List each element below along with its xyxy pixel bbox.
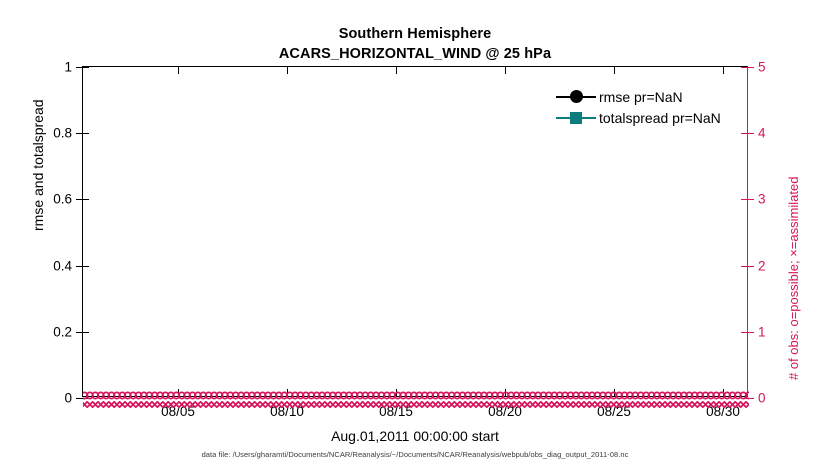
x-tick-label-0: 08/05 bbox=[161, 404, 195, 419]
chart-title-line-1: Southern Hemisphere bbox=[0, 24, 830, 44]
y-tick-label-left-0: 0 bbox=[64, 391, 72, 406]
obs-possible-icon bbox=[83, 390, 749, 401]
legend-marker-circle-icon bbox=[553, 88, 599, 106]
y-tick-label-right-4: 4 bbox=[758, 126, 766, 141]
y-axis-left-title: rmse and totalspread bbox=[30, 99, 46, 231]
legend-item-totalspread[interactable]: totalspread pr=NaN bbox=[553, 107, 739, 128]
y-tick-label-right-3: 3 bbox=[758, 192, 766, 207]
chart-title: Southern Hemisphere ACARS_HORIZONTAL_WIN… bbox=[0, 24, 830, 64]
y-tick-label-right-1: 1 bbox=[758, 324, 766, 339]
x-tick-label-4: 08/25 bbox=[597, 404, 631, 419]
data-file-footer: data file: /Users/gharamti/Documents/NCA… bbox=[0, 450, 830, 459]
y-tick-label-left-3: 0.6 bbox=[53, 192, 72, 207]
legend-item-rmse[interactable]: rmse pr=NaN bbox=[553, 86, 739, 107]
y-axis-right-title: # of obs: o=possible; ×=assimilated bbox=[786, 177, 801, 380]
chart-legend: rmse pr=NaN totalspread pr=NaN bbox=[553, 82, 739, 132]
y-tick-label-right-0: 0 bbox=[758, 391, 766, 406]
x-tick-label-3: 08/20 bbox=[488, 404, 522, 419]
legend-marker-square-icon bbox=[553, 109, 599, 127]
x-tick-label-1: 08/10 bbox=[270, 404, 304, 419]
chart-figure: Southern Hemisphere ACARS_HORIZONTAL_WIN… bbox=[0, 0, 830, 470]
y-tick-label-left-4: 0.8 bbox=[53, 126, 72, 141]
legend-label-rmse: rmse pr=NaN bbox=[599, 89, 683, 105]
y-tick-label-left-1: 0.2 bbox=[53, 324, 72, 339]
x-tick-label-2: 08/15 bbox=[379, 404, 413, 419]
obs-possible-marker-row bbox=[83, 390, 747, 401]
y-tick-label-right-5: 5 bbox=[758, 60, 766, 75]
y-tick-label-left-2: 0.4 bbox=[53, 258, 72, 273]
y-tick-label-right-2: 2 bbox=[758, 258, 766, 273]
y-tick-label-left-5: 1 bbox=[64, 60, 72, 75]
x-tick-label-5: 08/30 bbox=[706, 404, 740, 419]
chart-title-line-2: ACARS_HORIZONTAL_WIND @ 25 hPa bbox=[0, 44, 830, 64]
legend-label-totalspread: totalspread pr=NaN bbox=[599, 110, 721, 126]
x-axis-title: Aug.01,2011 00:00:00 start bbox=[0, 428, 830, 444]
